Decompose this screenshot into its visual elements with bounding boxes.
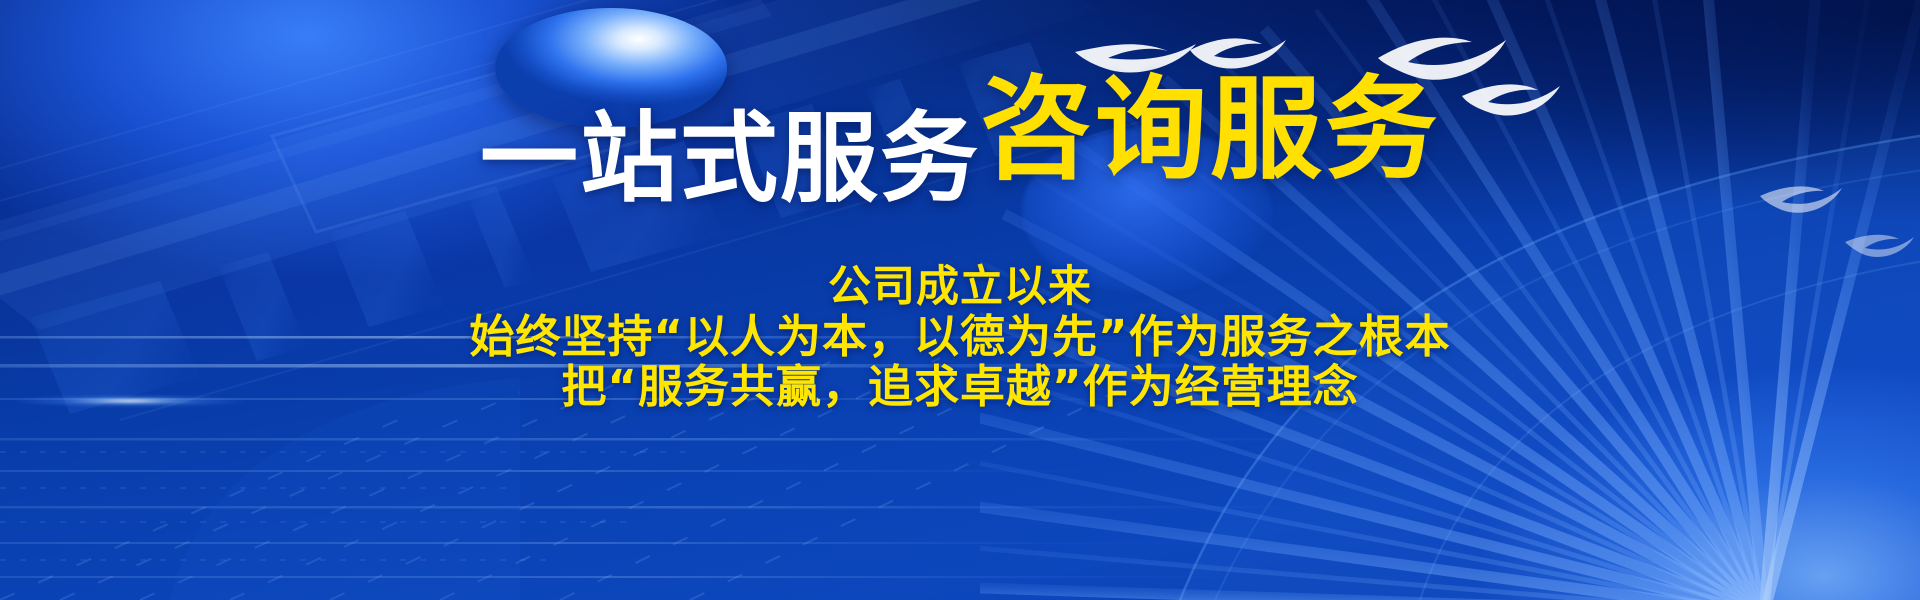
- body-line-2: 始终坚持“以人为本，以德为先”作为服务之根本: [0, 312, 1920, 362]
- headline-yellow-text: 咨询服务: [980, 65, 1440, 195]
- headline-white-text: 一站式服务: [480, 102, 980, 216]
- body-text: 公司成立以来 始终坚持“以人为本，以德为先”作为服务之根本 把“服务共赢，追求卓…: [0, 262, 1920, 412]
- body-line-1: 公司成立以来: [0, 262, 1920, 312]
- body-line-3: 把“服务共赢，追求卓越”作为经营理念: [0, 362, 1920, 412]
- promo-banner: 一站式服务咨询服务 公司成立以来 始终坚持“以人为本，以德为先”作为服务之根本 …: [0, 0, 1920, 600]
- headline: 一站式服务咨询服务: [0, 74, 1920, 208]
